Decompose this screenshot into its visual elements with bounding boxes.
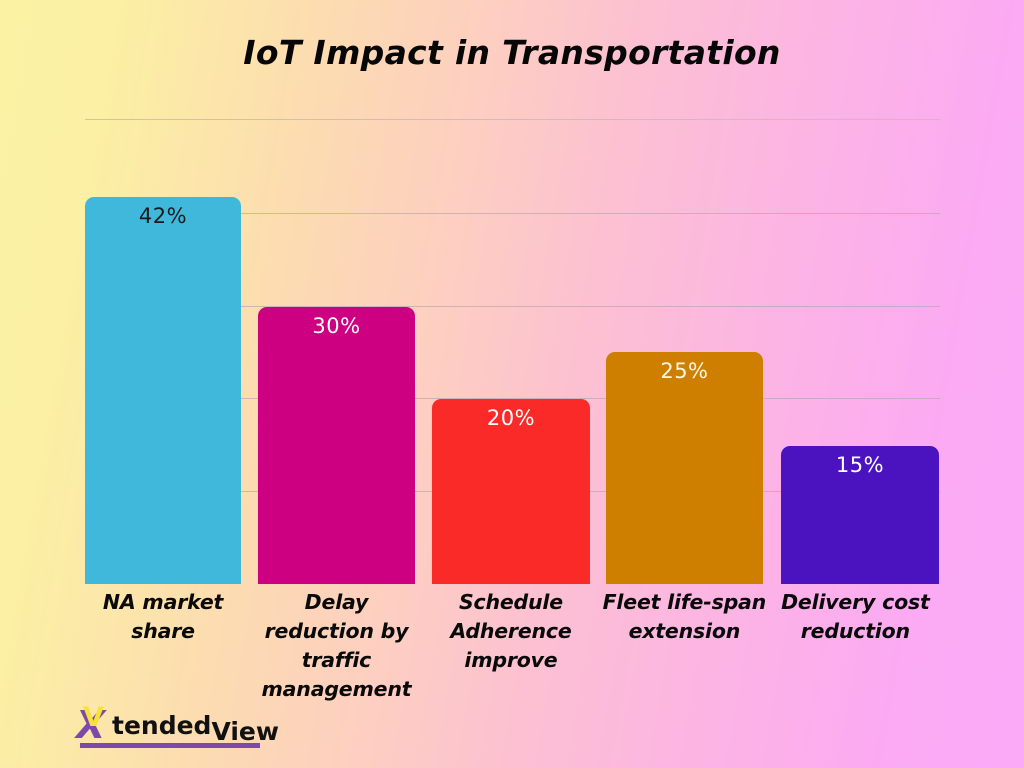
- bar[interactable]: 15%: [781, 446, 939, 584]
- category-label: Fleet life-span extension: [594, 588, 775, 646]
- plot-area: 42%30%20%25%15%: [85, 150, 940, 584]
- chart-title: IoT Impact in Transportation: [0, 33, 1024, 72]
- category-label: Schedule Adherence improve: [432, 588, 590, 675]
- bar-column[interactable]: 25%: [606, 352, 763, 584]
- bar-column[interactable]: 15%: [781, 446, 939, 584]
- title-divider: [85, 119, 940, 120]
- bar[interactable]: 42%: [85, 197, 241, 584]
- bar-column[interactable]: 20%: [432, 399, 590, 584]
- xtendedview-logo-icon: X V: [76, 704, 116, 744]
- watermark-logo: X V tended View: [76, 704, 279, 752]
- logo-text-view: View: [211, 719, 279, 744]
- category-label: Delivery cost reduction: [771, 588, 940, 646]
- bar-value-label: 30%: [258, 314, 415, 338]
- bar[interactable]: 30%: [258, 307, 415, 584]
- bar-column[interactable]: 42%: [85, 197, 241, 584]
- bars-group: 42%30%20%25%15%: [85, 150, 940, 584]
- bar[interactable]: 20%: [432, 399, 590, 584]
- category-label: NA market share: [85, 588, 241, 646]
- bar-value-label: 20%: [432, 406, 590, 430]
- chart-slide: IoT Impact in Transportation 42%30%20%25…: [0, 0, 1024, 768]
- logo-underline: [80, 743, 260, 748]
- bar-value-label: 25%: [606, 359, 763, 383]
- category-label: Delay reduction by traffic management: [258, 588, 415, 704]
- logo-letter-v: V: [83, 704, 104, 731]
- logo-text-tended: tended: [112, 713, 211, 738]
- bar[interactable]: 25%: [606, 352, 763, 584]
- bar-column[interactable]: 30%: [258, 307, 415, 584]
- bar-value-label: 15%: [781, 453, 939, 477]
- bar-value-label: 42%: [85, 204, 241, 228]
